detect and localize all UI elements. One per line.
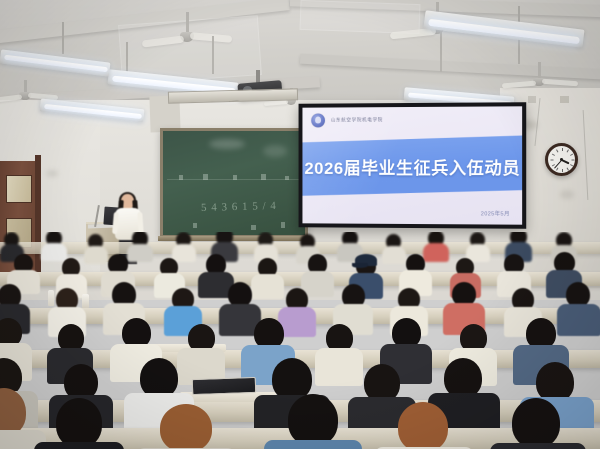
wall-crack	[560, 96, 569, 103]
wall-crack	[528, 96, 536, 103]
wall-clock	[545, 143, 578, 176]
chalkboard-frame: 5 4 3 6 1 5 / 4	[160, 128, 308, 238]
slide-header: 山东航空学院机电学院	[302, 106, 522, 132]
wall-stain	[46, 170, 58, 177]
chalkboard-text: 5 4 3 6 1 5 / 4	[201, 200, 277, 214]
water-bottle	[82, 294, 89, 308]
projection-screen: 山东航空学院机电学院 2026届毕业生征兵入伍动员 2025年5月	[299, 102, 527, 229]
lecture-hall-photo: 5 4 3 6 1 5 / 4 山东航空学院机电学院 2026届毕业生征兵入伍动…	[0, 0, 600, 449]
audience-seating	[0, 232, 600, 449]
water-bottle	[48, 290, 54, 306]
slide-date: 2025年5月	[481, 209, 510, 217]
clock-center-pin	[560, 158, 563, 161]
desk-tablet[interactable]	[192, 377, 257, 395]
presentation-slide: 山东航空学院机电学院 2026届毕业生征兵入伍动员 2025年5月	[302, 106, 522, 224]
chalkboard: 5 4 3 6 1 5 / 4	[163, 131, 305, 235]
ceiling-panel	[300, 0, 421, 34]
clock-face	[548, 146, 575, 173]
door-window-upper	[6, 175, 32, 203]
university-emblem-icon	[311, 113, 325, 127]
slide-title: 2026届毕业生征兵入伍动员	[304, 153, 520, 178]
wall-stain	[560, 190, 574, 199]
slide-title-band: 2026届毕业生征兵入伍动员	[302, 136, 522, 196]
slide-university-name: 山东航空学院机电学院	[331, 117, 383, 123]
